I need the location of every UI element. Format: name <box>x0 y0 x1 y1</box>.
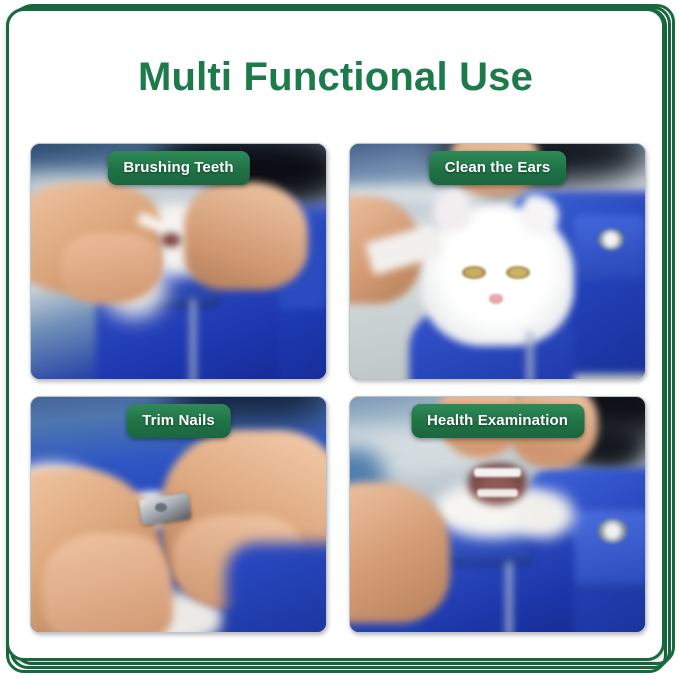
poster: Multi Functional Use <box>0 0 679 679</box>
panel-trim-nails[interactable]: Trim Nails <box>30 396 327 633</box>
page-title: Multi Functional Use <box>9 55 662 100</box>
poster-card: Multi Functional Use <box>6 8 665 661</box>
panel-brushing-teeth[interactable]: Brushing Teeth <box>30 143 327 380</box>
panel-health-examination[interactable]: Health Examination <box>349 396 646 633</box>
badge-trim-nails: Trim Nails <box>126 404 231 438</box>
panel-clean-the-ears[interactable]: Clean the Ears <box>349 143 646 380</box>
badge-clean-the-ears: Clean the Ears <box>429 151 567 185</box>
badge-health-examination: Health Examination <box>411 404 584 438</box>
badge-brushing-teeth: Brushing Teeth <box>107 151 249 185</box>
feature-grid: Brushing Teeth <box>30 143 646 633</box>
